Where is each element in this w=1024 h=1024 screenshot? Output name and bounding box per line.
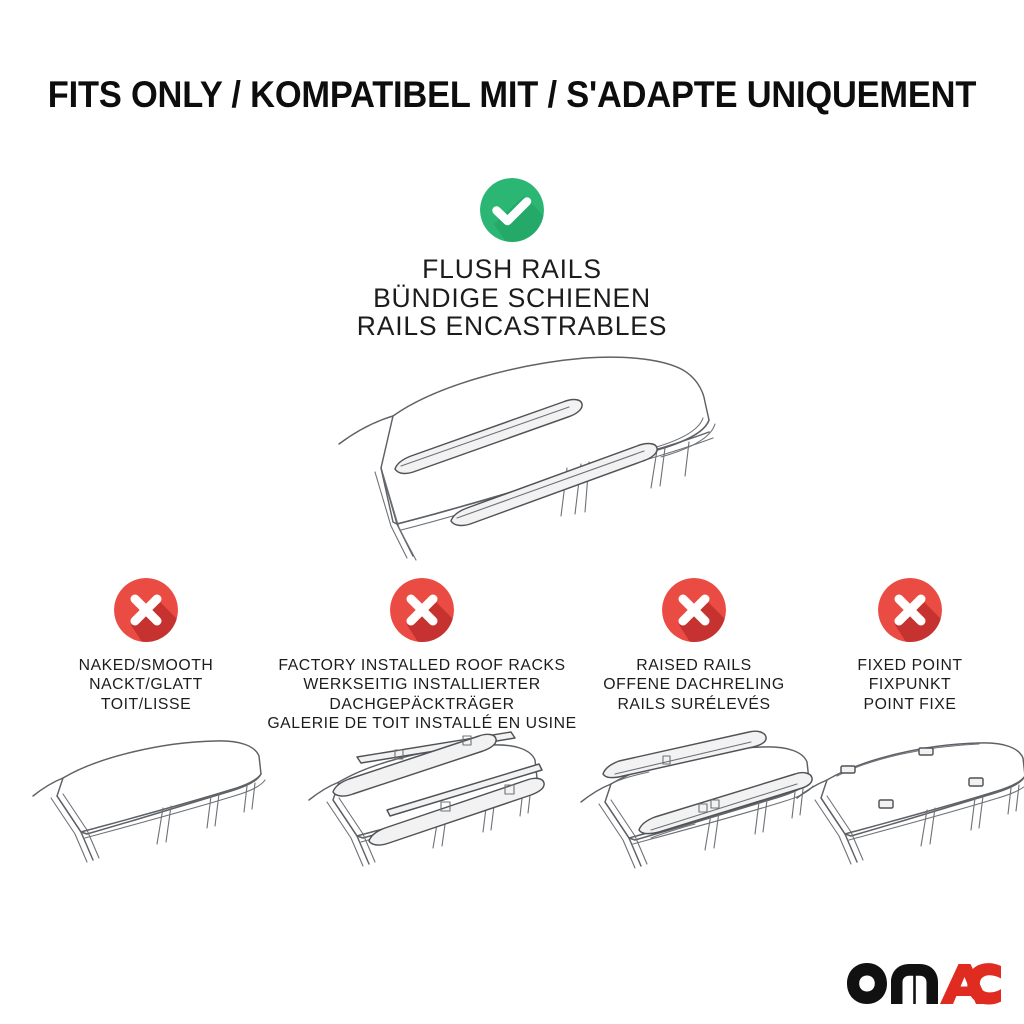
option-label-line-en: FIXED POINT: [806, 656, 1014, 675]
option-label-line-fr: TOIT/LISSE: [26, 695, 266, 714]
option-label-line-fr: RAILS SURÉLEVÉS: [582, 695, 806, 714]
option-label-line-de: FIXPUNKT: [806, 675, 1014, 694]
option-label-line-de: NACKT/GLATT: [26, 675, 266, 694]
incompatible-option-fixed-point: FIXED POINT FIXPUNKT POINT FIXE: [806, 578, 1014, 714]
option-label-line-de-2: DACHGEPÄCKTRÄGER: [262, 695, 582, 714]
logo-letter-o: [847, 963, 887, 1004]
option-label-factory-roof-racks: FACTORY INSTALLED ROOF RACKS WERKSEITIG …: [262, 656, 582, 734]
check-circle-icon: [480, 178, 544, 242]
cross-circle-icon: [662, 578, 726, 642]
car-roof-naked-smooth-illustration: [15, 730, 277, 910]
car-roof-with-flush-rails-illustration: [285, 346, 755, 576]
car-roof-with-factory-roof-rack-illustration: [291, 730, 553, 910]
cross-circle-icon: [114, 578, 178, 642]
compatible-option-flush-rails: FLUSH RAILS BÜNDIGE SCHIENEN RAILS ENCAS…: [0, 178, 1024, 341]
cross-circle-icon: [390, 578, 454, 642]
omac-logo: [846, 962, 1002, 1010]
option-label-line-de-1: WERKSEITIG INSTALLIERTER: [262, 675, 582, 694]
option-label-raised-rails: RAISED RAILS OFFENE DACHRELING RAILS SUR…: [582, 656, 806, 714]
option-label-line-en: NAKED/SMOOTH: [26, 656, 266, 675]
option-label-line-de: OFFENE DACHRELING: [582, 675, 806, 694]
page-title: FITS ONLY / KOMPATIBEL MIT / S'ADAPTE UN…: [36, 74, 988, 116]
compatible-label-line-en: FLUSH RAILS: [0, 255, 1024, 284]
option-label-line-en: FACTORY INSTALLED ROOF RACKS: [262, 656, 582, 675]
incompatible-option-factory-roof-racks: FACTORY INSTALLED ROOF RACKS WERKSEITIG …: [262, 578, 582, 734]
compatible-label-line-de: BÜNDIGE SCHIENEN: [0, 284, 1024, 313]
compatible-option-label: FLUSH RAILS BÜNDIGE SCHIENEN RAILS ENCAS…: [0, 255, 1024, 341]
incompatible-option-naked-smooth: NAKED/SMOOTH NACKT/GLATT TOIT/LISSE: [26, 578, 266, 714]
logo-letter-m: [891, 964, 938, 1004]
option-label-naked-smooth: NAKED/SMOOTH NACKT/GLATT TOIT/LISSE: [26, 656, 266, 714]
option-label-fixed-point: FIXED POINT FIXPUNKT POINT FIXE: [806, 656, 1014, 714]
incompatible-option-raised-rails: RAISED RAILS OFFENE DACHRELING RAILS SUR…: [582, 578, 806, 714]
cross-circle-icon: [878, 578, 942, 642]
option-label-line-en: RAISED RAILS: [582, 656, 806, 675]
car-roof-with-fixed-points-illustration: [779, 730, 1024, 910]
compatible-label-line-fr: RAILS ENCASTRABLES: [0, 312, 1024, 341]
option-label-line-fr: POINT FIXE: [806, 695, 1014, 714]
